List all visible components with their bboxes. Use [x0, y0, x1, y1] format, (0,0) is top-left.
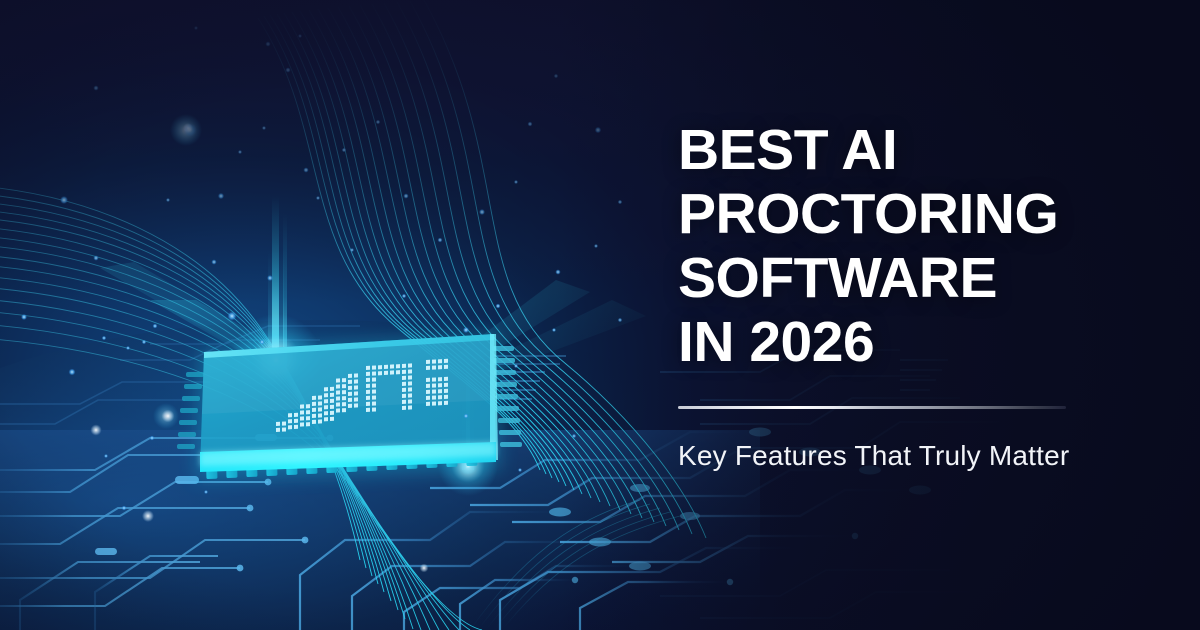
title-divider	[678, 406, 1066, 409]
subtitle: Key Features That Truly Matter	[678, 439, 1148, 473]
page-title: BEST AI PROCTORING SOFTWARE IN 2026	[678, 118, 1148, 374]
text-panel: BEST AI PROCTORING SOFTWARE IN 2026 Key …	[678, 118, 1148, 473]
banner-root: BEST AI PROCTORING SOFTWARE IN 2026 Key …	[0, 0, 1200, 630]
